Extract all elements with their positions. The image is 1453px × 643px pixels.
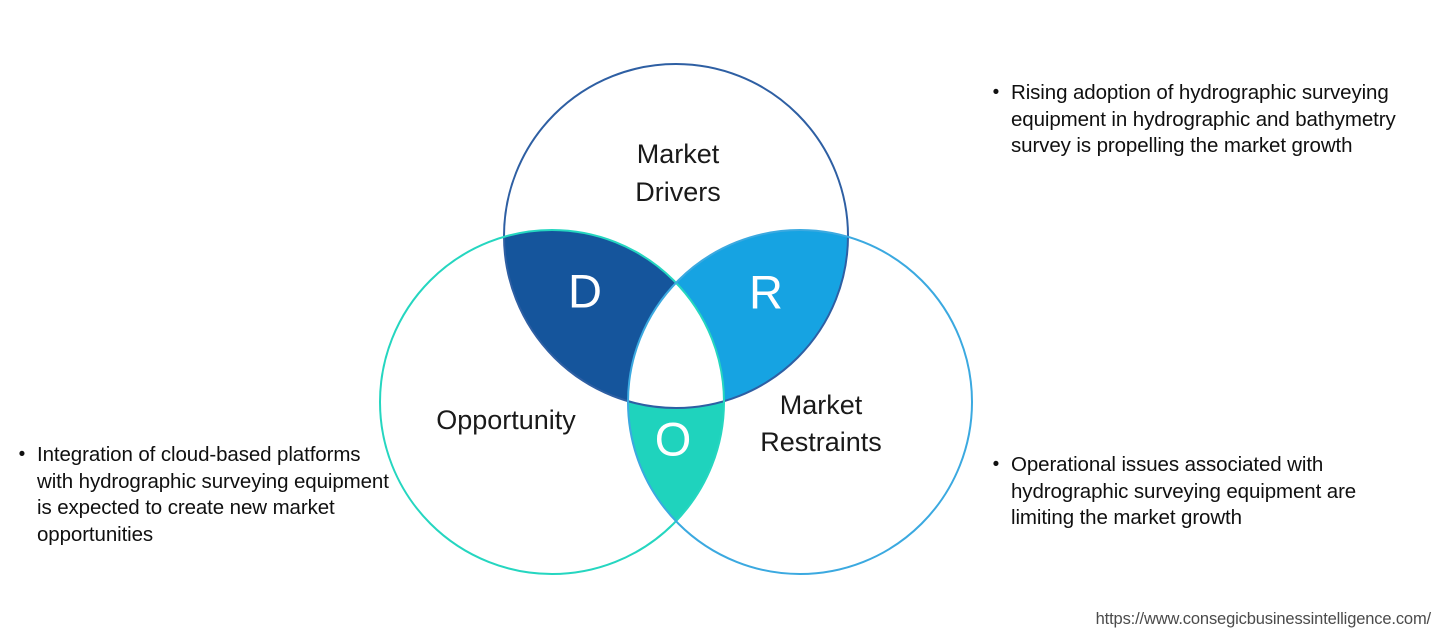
callout-market-drivers: • Rising adoption of hydrographic survey…	[992, 80, 1442, 160]
callout-opportunity-text: Integration of cloud-based platforms wit…	[37, 442, 398, 548]
label-market-drivers-line1: Market	[637, 139, 720, 169]
label-opportunity: Opportunity	[436, 405, 576, 435]
bullet-icon: •	[18, 442, 26, 468]
lens-letter-o: O	[655, 412, 692, 465]
source-url[interactable]: https://www.consegicbusinessintelligence…	[1096, 609, 1431, 629]
bullet-icon: •	[992, 452, 1000, 478]
callout-opportunity: • Integration of cloud-based platforms w…	[18, 442, 398, 548]
callout-market-drivers-text: Rising adoption of hydrographic surveyin…	[1011, 80, 1442, 160]
slide-canvas: Market Drivers Opportunity Market Restra…	[0, 0, 1453, 643]
bullet-icon: •	[992, 80, 1000, 106]
callout-market-restraints: • Operational issues associated with hyd…	[992, 452, 1422, 532]
label-market-restraints-line2: Restraints	[760, 427, 882, 457]
lens-letter-r: R	[749, 265, 783, 318]
venn-diagram: Market Drivers Opportunity Market Restra…	[340, 40, 1020, 600]
label-market-drivers-line2: Drivers	[635, 177, 721, 207]
label-market-restraints-line1: Market	[780, 390, 863, 420]
callout-market-restraints-text: Operational issues associated with hydro…	[1011, 452, 1422, 532]
lens-letter-d: D	[568, 264, 602, 317]
